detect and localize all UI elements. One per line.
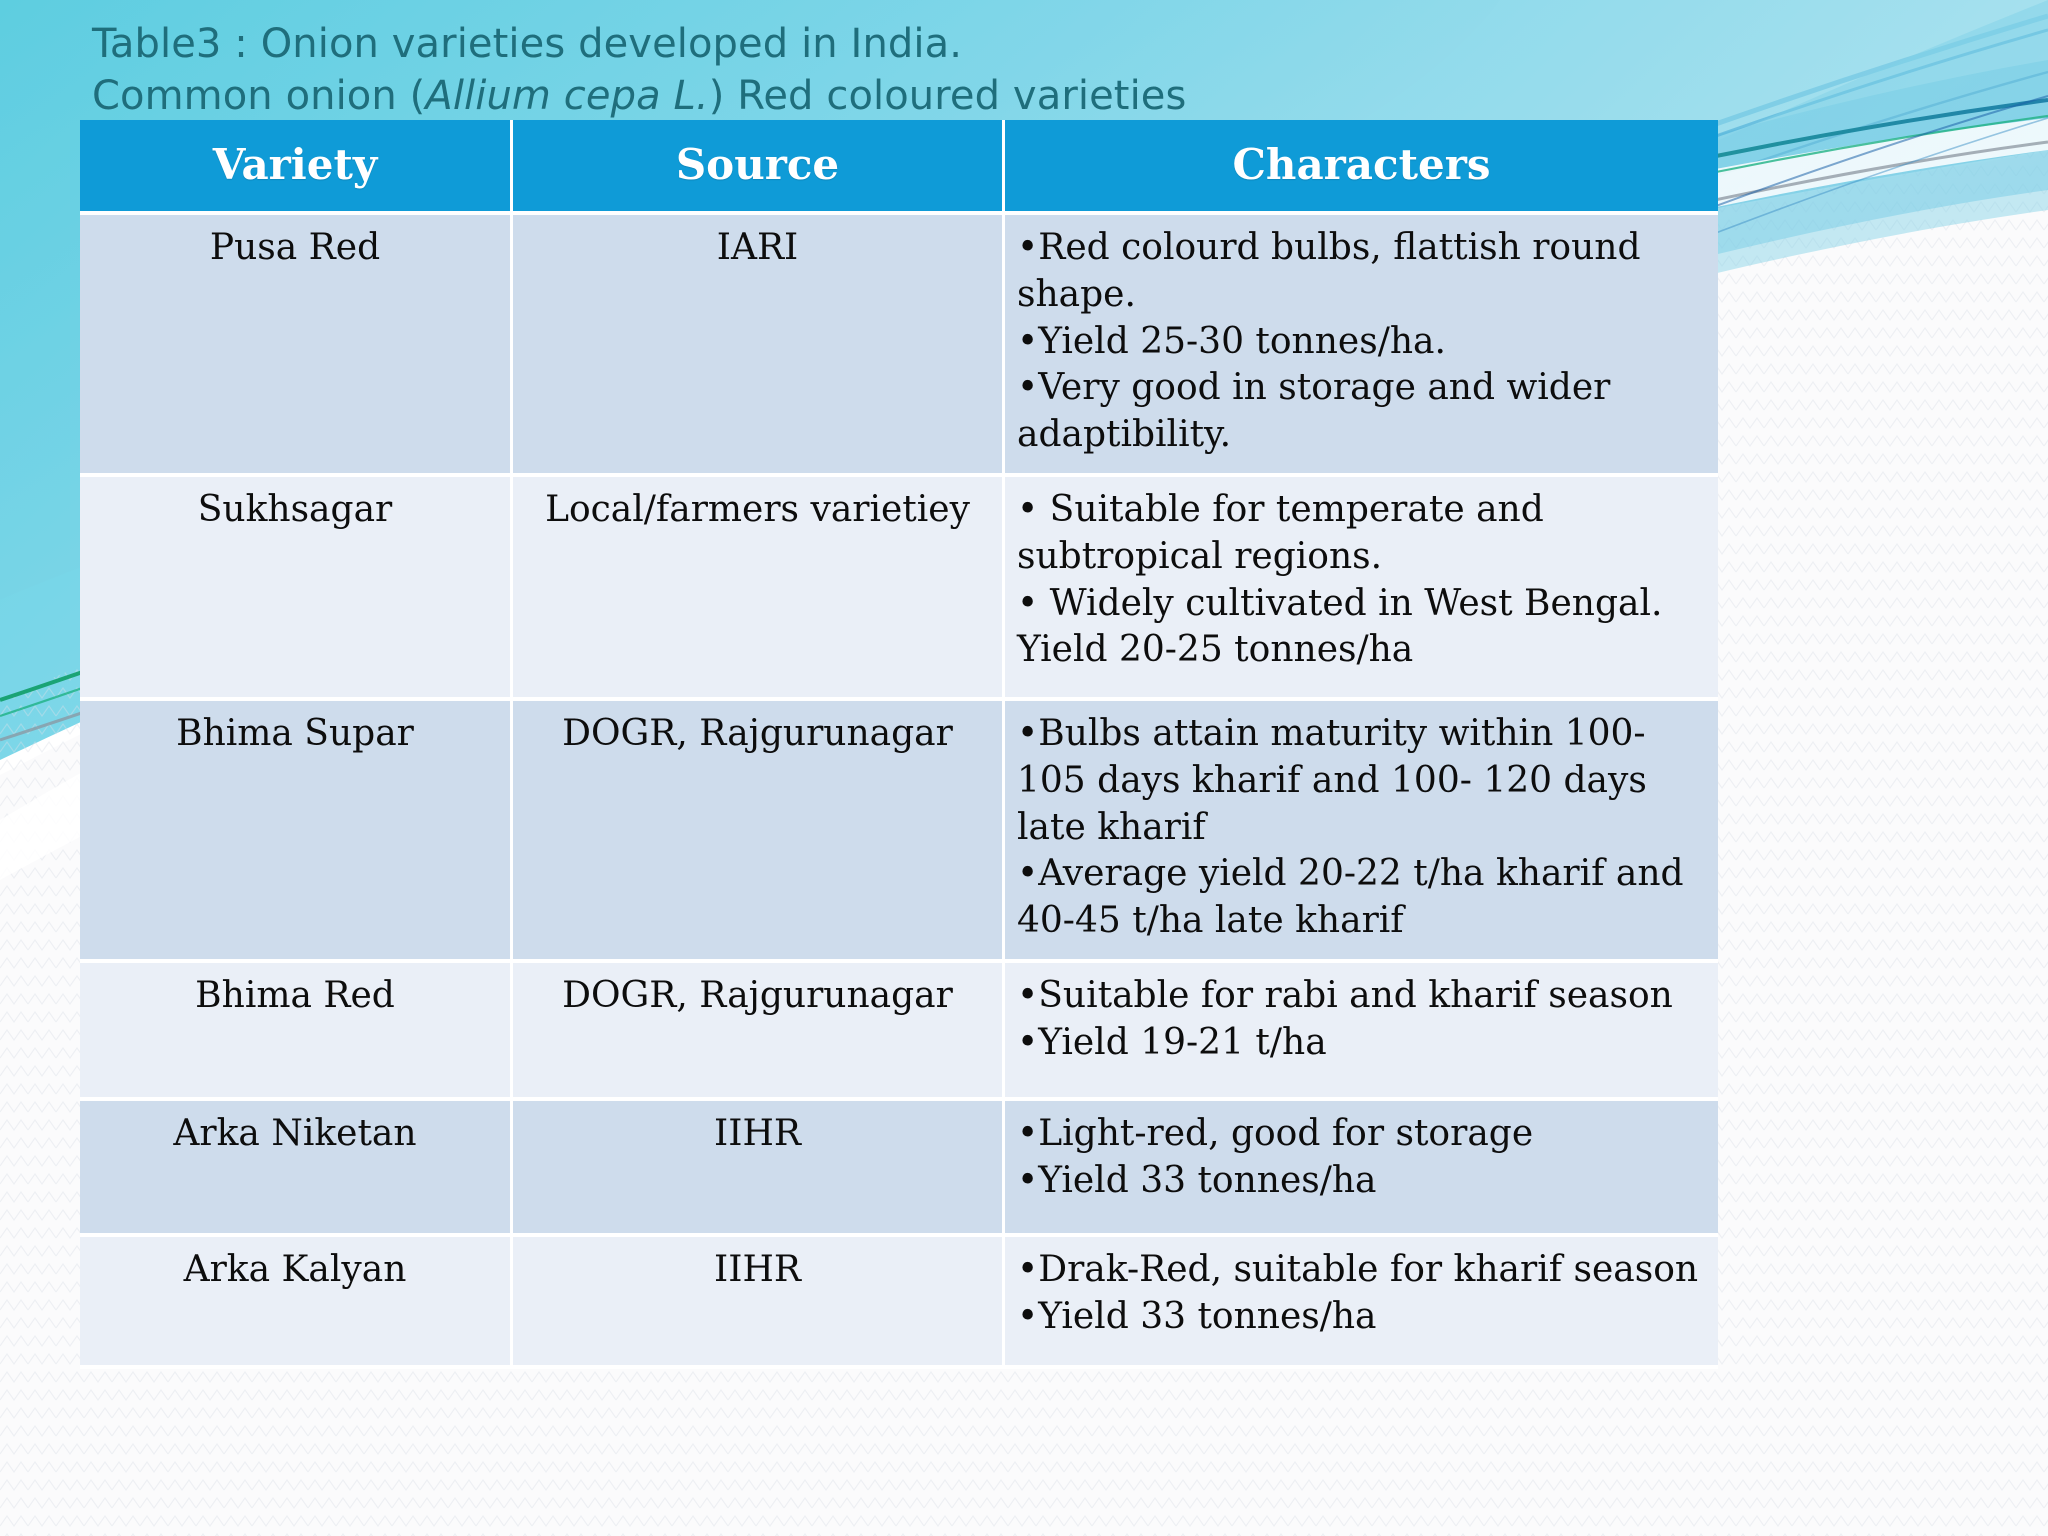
- title-line-1: Table3 : Onion varieties developed in In…: [92, 18, 1592, 70]
- table-body: Pusa RedIARI•Red colourd bulbs, flattish…: [80, 215, 1718, 1369]
- table-row: Pusa RedIARI•Red colourd bulbs, flattish…: [80, 215, 1718, 477]
- character-bullet: •Drak-Red, suitable for kharif season: [1017, 1247, 1706, 1294]
- title-line-2: Common onion (Allium cepa L.) Red colour…: [92, 70, 1592, 122]
- table-header-row: Variety Source Characters: [80, 120, 1718, 215]
- cell-source: DOGR, Rajgurunagar: [513, 701, 1005, 963]
- cell-variety: Arka Niketan: [80, 1101, 513, 1237]
- cell-variety: Arka Kalyan: [80, 1237, 513, 1369]
- title-species-italic: Allium cepa L.: [425, 73, 708, 119]
- character-bullet: •Yield 33 tonnes/ha: [1017, 1158, 1706, 1205]
- cell-source: IIHR: [513, 1237, 1005, 1369]
- cell-source: IARI: [513, 215, 1005, 477]
- cell-variety: Pusa Red: [80, 215, 513, 477]
- slide-canvas: Table3 : Onion varieties developed in In…: [0, 0, 2048, 1536]
- character-bullet: •Yield 25-30 tonnes/ha.: [1017, 319, 1706, 366]
- title-line-2-suffix: ) Red coloured varieties: [709, 73, 1187, 119]
- cell-characters: •Bulbs attain maturity within 100-105 da…: [1005, 701, 1718, 963]
- character-bullet: •Red colourd bulbs, flattish round shape…: [1017, 225, 1706, 319]
- character-bullet: •Light-red, good for storage: [1017, 1111, 1706, 1158]
- character-bullet: • Suitable for temperate and subtropical…: [1017, 487, 1706, 581]
- onion-varieties-table: Variety Source Characters Pusa RedIARI•R…: [80, 120, 1718, 1369]
- character-bullet: •Yield 19-21 t/ha: [1017, 1020, 1706, 1067]
- cell-source: IIHR: [513, 1101, 1005, 1237]
- cell-variety: Bhima Supar: [80, 701, 513, 963]
- character-bullet: •Bulbs attain maturity within 100-105 da…: [1017, 711, 1706, 851]
- table-row: Bhima SuparDOGR, Rajgurunagar•Bulbs atta…: [80, 701, 1718, 963]
- column-header-source: Source: [513, 120, 1005, 215]
- column-header-characters: Characters: [1005, 120, 1718, 215]
- table-row: Bhima RedDOGR, Rajgurunagar•Suitable for…: [80, 963, 1718, 1101]
- character-bullet: • Widely cultivated in West Bengal. Yiel…: [1017, 581, 1706, 675]
- cell-variety: Sukhsagar: [80, 477, 513, 701]
- cell-characters: •Red colourd bulbs, flattish round shape…: [1005, 215, 1718, 477]
- character-bullet: •Suitable for rabi and kharif season: [1017, 973, 1706, 1020]
- column-header-variety: Variety: [80, 120, 513, 215]
- character-bullet: •Yield 33 tonnes/ha: [1017, 1294, 1706, 1341]
- title-line-2-prefix: Common onion (: [92, 73, 425, 119]
- slide-title: Table3 : Onion varieties developed in In…: [92, 18, 1592, 122]
- table-row: SukhsagarLocal/farmers varietiey• Suitab…: [80, 477, 1718, 701]
- table-row: Arka NiketanIIHR•Light-red, good for sto…: [80, 1101, 1718, 1237]
- cell-characters: •Suitable for rabi and kharif season•Yie…: [1005, 963, 1718, 1101]
- cell-characters: • Suitable for temperate and subtropical…: [1005, 477, 1718, 701]
- cell-variety: Bhima Red: [80, 963, 513, 1101]
- cell-characters: •Drak-Red, suitable for kharif season•Yi…: [1005, 1237, 1718, 1369]
- character-bullet: •Very good in storage and wider adaptibi…: [1017, 365, 1706, 459]
- cell-source: DOGR, Rajgurunagar: [513, 963, 1005, 1101]
- cell-source: Local/farmers varietiey: [513, 477, 1005, 701]
- cell-characters: •Light-red, good for storage•Yield 33 to…: [1005, 1101, 1718, 1237]
- character-bullet: •Average yield 20-22 t/ha kharif and 40-…: [1017, 851, 1706, 945]
- table-row: Arka KalyanIIHR•Drak-Red, suitable for k…: [80, 1237, 1718, 1369]
- table-header: Variety Source Characters: [80, 120, 1718, 215]
